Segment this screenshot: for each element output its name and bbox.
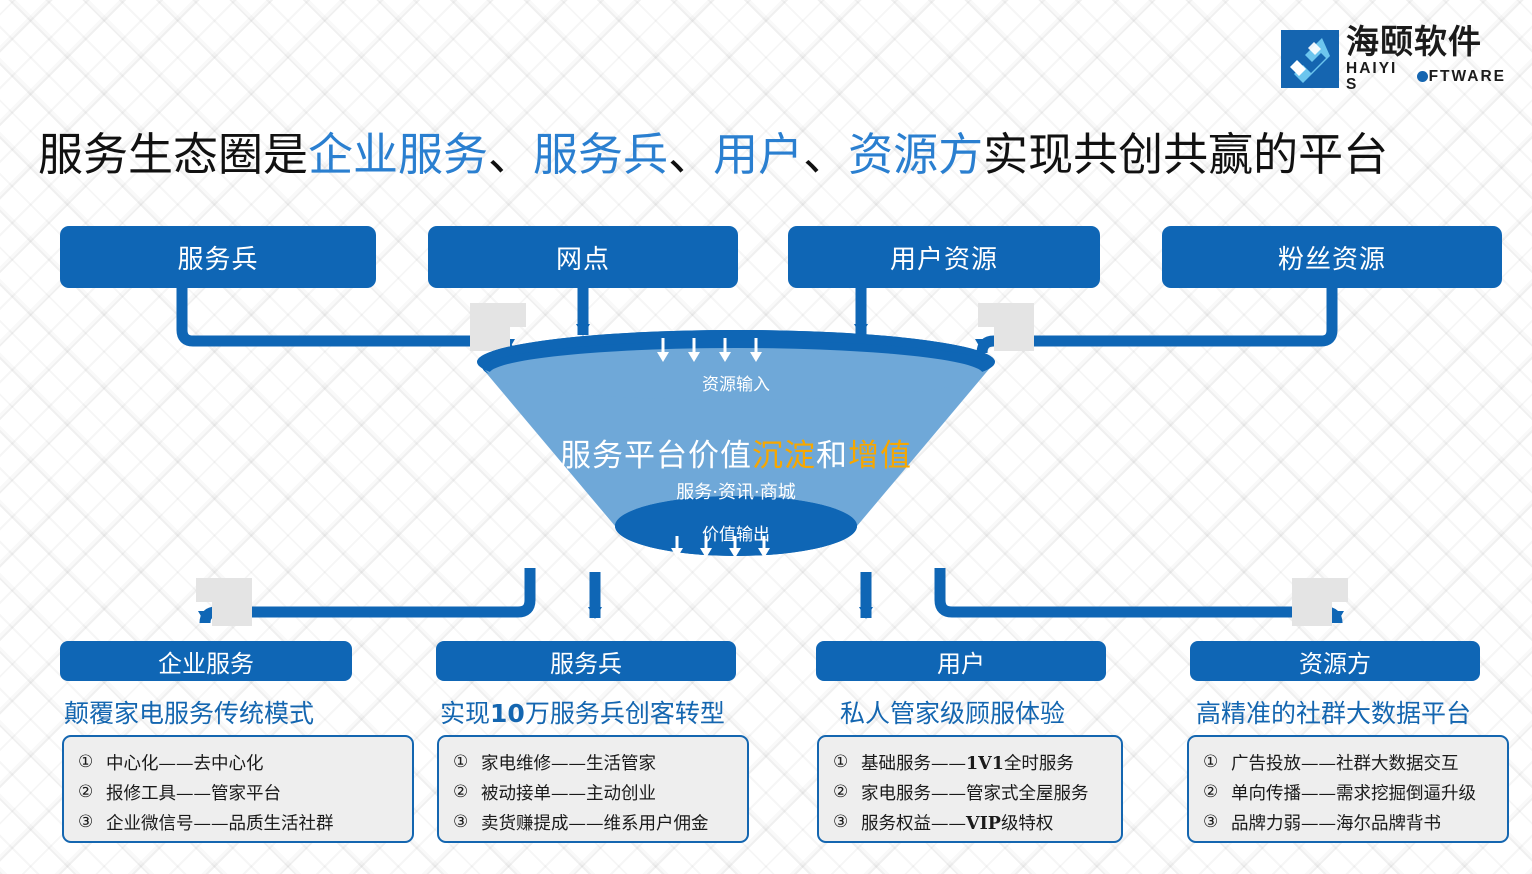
list-item-number: ② [78,782,106,802]
list-item: ③ 品牌力弱——海尔品牌背书 [1203,807,1495,837]
list-item-number: ① [453,752,481,772]
source-box-wangdian[interactable]: 网点 [428,226,738,288]
grey-tab-top-left-a [470,303,526,327]
list-item: ① 基础服务——1V1全时服务 [833,747,1109,777]
outcome-pill-qiyefuwu[interactable]: 企业服务 [60,641,352,681]
funnel-main-white-2: 和 [816,438,848,474]
list-item: ② 报修工具——管家平台 [78,777,400,807]
funnel-main-gold-2: 增值 [848,438,912,474]
funnel-output-label: 价值输出 [463,520,1009,545]
source-box-label: 服务兵 [177,239,258,276]
list-item-text-post: 全时服务 [1004,754,1074,774]
list-item-text: 企业微信号——品质生活社群 [106,810,334,835]
list-item-text: 广告投放——社群大数据交互 [1231,750,1459,775]
outcome-card-qiyefuwu: ① 中心化——去中心化 ② 报修工具——管家平台 ③ 企业微信号——品质生活社群 [62,735,414,843]
list-item-number: ① [78,752,106,772]
subtitle-bold: 10 [490,699,525,728]
list-item-text-post: 级特权 [1001,814,1054,834]
source-box-yonghuziyuan[interactable]: 用户资源 [788,226,1100,288]
source-box-fensiziyuan[interactable]: 粉丝资源 [1162,226,1502,288]
list-item-number: ③ [1203,812,1231,832]
subtitle-pre: 私人管家级顾服体验 [840,699,1065,728]
grey-tab-bottom-right-b [1292,602,1332,626]
source-box-label: 粉丝资源 [1278,239,1386,276]
list-item-number: ② [453,782,481,802]
subtitle-pre: 高精准的社群大数据平台 [1196,699,1471,728]
outcome-pill-ziyuanfang[interactable]: 资源方 [1190,641,1480,681]
subtitle-pre: 实现 [440,699,490,728]
list-item-text: 中心化——去中心化 [106,750,264,775]
list-item: ① 中心化——去中心化 [78,747,400,777]
outcome-pill-yonghu[interactable]: 用户 [816,641,1106,681]
subtitle-pre: 颠覆家电服务传统模式 [64,699,314,728]
grey-tab-bottom-right-a [1292,578,1348,602]
list-item-number: ① [1203,752,1231,772]
list-item-text: 服务权益——VIP级特权 [861,810,1053,835]
list-item-number: ② [833,782,861,802]
outcome-subtitle-ziyuanfang: 高精准的社群大数据平台 [1196,694,1471,730]
list-item-text: 卖货赚提成——维系用户佣金 [481,810,709,835]
outcome-subtitle-fuwubing: 实现10万服务兵创客转型 [440,694,725,730]
outcome-pill-label: 资源方 [1299,644,1371,679]
outcome-pill-label: 企业服务 [158,644,254,679]
outcome-subtitle-yonghu: 私人管家级顾服体验 [840,694,1065,730]
list-item-text: 家电服务——管家式全屋服务 [861,780,1089,805]
list-item-text-bold: 1V1 [966,754,1004,774]
list-item: ② 被动接单——主动创业 [453,777,735,807]
grey-tab-bottom-left-b [212,602,252,626]
outcome-pill-label: 用户 [937,644,985,679]
list-item: ② 单向传播——需求挖掘倒逼升级 [1203,777,1495,807]
list-item: ③ 服务权益——VIP级特权 [833,807,1109,837]
list-item-text: 报修工具——管家平台 [106,780,281,805]
grey-tab-top-right-a [978,303,1034,327]
list-item-number: ③ [453,812,481,832]
grey-tab-bottom-left-a [196,578,252,602]
list-item-text: 被动接单——主动创业 [481,780,656,805]
list-item: ③ 卖货赚提成——维系用户佣金 [453,807,735,837]
list-item-text: 单向传播——需求挖掘倒逼升级 [1231,780,1476,805]
outcome-card-ziyuanfang: ① 广告投放——社群大数据交互 ② 单向传播——需求挖掘倒逼升级 ③ 品牌力弱—… [1187,735,1509,843]
outcome-pill-fuwubing[interactable]: 服务兵 [436,641,736,681]
list-item-number: ② [1203,782,1231,802]
list-item: ① 家电维修——生活管家 [453,747,735,777]
list-item-text-bold: VIP [966,814,1001,834]
outcome-card-yonghu: ① 基础服务——1V1全时服务 ② 家电服务——管家式全屋服务 ③ 服务权益——… [817,735,1123,843]
list-item-number: ③ [78,812,106,832]
outcome-pill-label: 服务兵 [550,644,622,679]
outcome-card-fuwubing: ① 家电维修——生活管家 ② 被动接单——主动创业 ③ 卖货赚提成——维系用户佣… [437,735,749,843]
list-item-text: 品牌力弱——海尔品牌背书 [1231,810,1441,835]
list-item-number: ③ [833,812,861,832]
list-item-text-pre: 基础服务—— [861,754,966,774]
funnel-main-label: 服务平台价值沉淀和增值 [463,430,1009,475]
source-box-label: 用户资源 [890,239,998,276]
list-item-number: ① [833,752,861,772]
funnel-main-gold-1: 沉淀 [752,438,816,474]
source-box-label: 网点 [556,239,610,276]
list-item-text-pre: 家电服务——管家式全屋服务 [861,784,1089,804]
list-item-text-pre: 服务权益—— [861,814,966,834]
funnel-input-label: 资源输入 [463,370,1009,395]
outcome-subtitle-qiyefuwu: 颠覆家电服务传统模式 [64,694,314,730]
platform-funnel: 资源输入 服务平台价值沉淀和增值 服务·资讯·商城 价值输出 [463,330,1009,580]
source-box-fuwubing[interactable]: 服务兵 [60,226,376,288]
list-item-text: 基础服务——1V1全时服务 [861,750,1074,775]
list-item: ① 广告投放——社群大数据交互 [1203,747,1495,777]
funnel-main-white-1: 服务平台价值 [560,438,752,474]
list-item: ③ 企业微信号——品质生活社群 [78,807,400,837]
subtitle-post: 万服务兵创客转型 [525,699,725,728]
list-item: ② 家电服务——管家式全屋服务 [833,777,1109,807]
funnel-sub-label: 服务·资讯·商城 [463,478,1009,504]
list-item-text: 家电维修——生活管家 [481,750,656,775]
